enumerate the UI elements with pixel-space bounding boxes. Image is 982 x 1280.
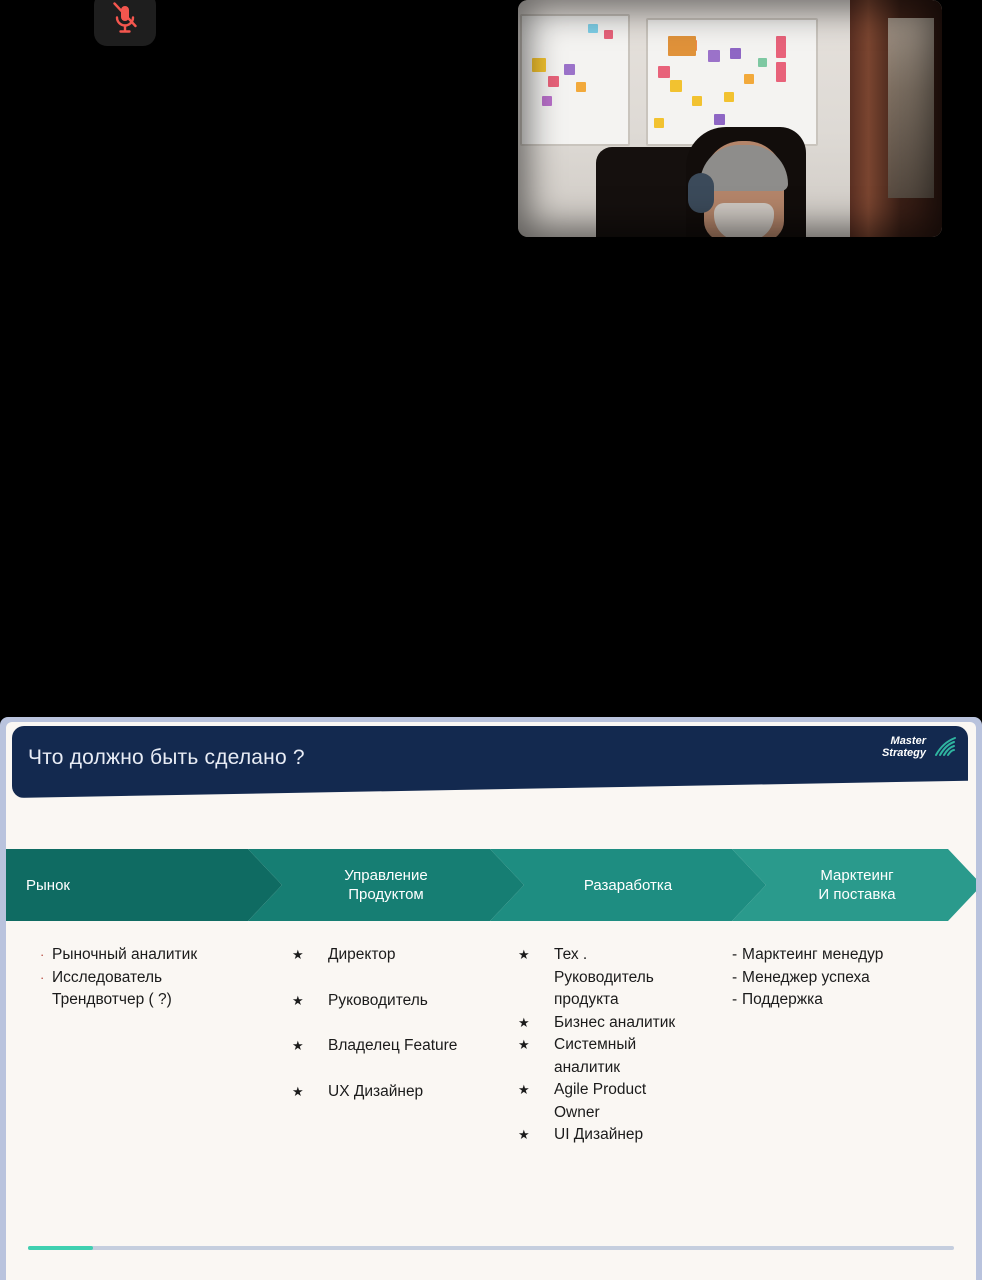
slide-progress-fill xyxy=(28,1246,93,1250)
bullet-star-icon: ★ xyxy=(518,1012,554,1035)
list-item-label: Agile Product xyxy=(554,1079,718,1102)
list-item: ★ Владелец Feature xyxy=(292,1035,510,1058)
role-column-development: ★ Тех . Руководитель продукта ★ Бизнес а… xyxy=(518,944,718,1147)
list-item: Трендвотчер ( ?) xyxy=(40,989,290,1012)
bullet-star-icon xyxy=(518,967,554,990)
stage-label-4-line1: Марктеинг xyxy=(818,866,895,885)
bullet-star-icon: ★ xyxy=(518,944,554,967)
list-item-label: Рыночный аналитик xyxy=(52,944,290,967)
list-item-label: Марктеинг менедур xyxy=(742,944,962,967)
list-item: · Исследователь xyxy=(40,967,290,990)
list-item: ★ UI Дизайнер xyxy=(518,1124,718,1147)
stage-chevron-2[interactable]: Управление Продуктом xyxy=(248,849,524,921)
stage-chevron-3[interactable]: Разаработка xyxy=(490,849,766,921)
list-item-label: Трендвотчер ( ?) xyxy=(52,989,290,1012)
list-item-label: Директор xyxy=(328,944,510,967)
role-column-market: · Рыночный аналитик · Исследователь Трен… xyxy=(40,944,290,1012)
bullet-dash-icon: - xyxy=(732,944,742,967)
stage-chevron-band: Рынок Управление Продуктом Разаработка М… xyxy=(6,849,976,921)
list-item-label: Владелец Feature xyxy=(328,1035,510,1058)
shared-slide-frame: Что должно быть сделано ? Master Strateg… xyxy=(0,717,982,1280)
webcam-video xyxy=(518,0,942,237)
list-item: ★ Системный xyxy=(518,1034,718,1057)
brand-line-1: Master xyxy=(882,735,926,747)
role-column-marketing-delivery: - Марктеинг менедур - Менеджер успеха - … xyxy=(732,944,962,1012)
bullet-star-icon: ★ xyxy=(292,990,328,1013)
bullet-star-icon: ★ xyxy=(292,944,328,967)
microphone-muted-badge[interactable] xyxy=(94,0,156,46)
microphone-muted-icon xyxy=(110,2,140,36)
list-item-label: Системный xyxy=(554,1034,718,1057)
list-item: ★ Бизнес аналитик xyxy=(518,1012,718,1035)
list-item-label: UX Дизайнер xyxy=(328,1081,510,1104)
slide: Что должно быть сделано ? Master Strateg… xyxy=(6,722,976,1280)
list-item: ★ Agile Product xyxy=(518,1079,718,1102)
brand-line-2: Strategy xyxy=(882,747,926,759)
list-item: - Поддержка xyxy=(732,989,962,1012)
list-item: продукта xyxy=(518,989,718,1012)
bullet-star-icon: ★ xyxy=(518,1034,554,1057)
list-item-label: Менеджер успеха xyxy=(742,967,962,990)
bullet-star-icon xyxy=(518,1057,554,1080)
bullet-star-icon: ★ xyxy=(518,1079,554,1102)
stage-label-4-line2: И поставка xyxy=(818,885,895,904)
stage-label-1: Рынок xyxy=(26,876,70,895)
list-item: Руководитель xyxy=(518,967,718,990)
bullet-star-icon: ★ xyxy=(292,1035,328,1058)
list-item-label: аналитик xyxy=(554,1057,718,1080)
stage-label-2-line1: Управление xyxy=(344,866,427,885)
list-item: ★ Руководитель xyxy=(292,990,510,1013)
role-columns: · Рыночный аналитик · Исследователь Трен… xyxy=(6,944,976,1234)
bullet-star-icon: ★ xyxy=(518,1124,554,1147)
bullet-dot-icon xyxy=(40,989,52,1012)
list-item-label: продукта xyxy=(554,989,718,1012)
brand-logo: Master Strategy xyxy=(882,734,958,760)
list-item: ★ Директор xyxy=(292,944,510,967)
list-item-label: Поддержка xyxy=(742,989,962,1012)
page-title: Что должно быть сделано ? xyxy=(28,746,305,770)
presenter-webcam-tile[interactable] xyxy=(518,0,942,237)
list-item-label: Руководитель xyxy=(554,967,718,990)
list-item: - Менеджер успеха xyxy=(732,967,962,990)
list-item: · Рыночный аналитик xyxy=(40,944,290,967)
list-item-label: Руководитель xyxy=(328,990,510,1013)
screen-root: Что должно быть сделано ? Master Strateg… xyxy=(0,0,982,1280)
bullet-dot-icon: · xyxy=(40,944,52,967)
slide-progress-bar[interactable] xyxy=(28,1246,954,1250)
list-item-label: UI Дизайнер xyxy=(554,1124,718,1147)
list-item-label: Owner xyxy=(554,1102,718,1125)
list-item: ★ Тех . xyxy=(518,944,718,967)
bullet-star-icon: ★ xyxy=(292,1081,328,1104)
role-column-product-management: ★ Директор ★ Руководитель ★ Владелец Fea… xyxy=(292,944,510,1126)
stage-chevron-4[interactable]: Марктеинг И поставка xyxy=(732,849,976,921)
list-item: Owner xyxy=(518,1102,718,1125)
list-item: ★ UX Дизайнер xyxy=(292,1081,510,1104)
list-item-label: Бизнес аналитик xyxy=(554,1012,718,1035)
stage-chevron-1[interactable]: Рынок xyxy=(6,849,282,921)
bullet-star-icon xyxy=(518,1102,554,1125)
bullet-star-icon xyxy=(518,989,554,1012)
list-item: - Марктеинг менедур xyxy=(732,944,962,967)
bullet-dash-icon: - xyxy=(732,989,742,1012)
list-item: аналитик xyxy=(518,1057,718,1080)
list-item-label: Тех . xyxy=(554,944,718,967)
bullet-dot-icon: · xyxy=(40,967,52,990)
wave-feather-icon xyxy=(932,734,958,760)
list-item-label: Исследователь xyxy=(52,967,290,990)
stage-label-3: Разаработка xyxy=(584,876,672,895)
stage-label-2-line2: Продуктом xyxy=(344,885,427,904)
brand-text: Master Strategy xyxy=(882,735,926,759)
bullet-dash-icon: - xyxy=(732,967,742,990)
